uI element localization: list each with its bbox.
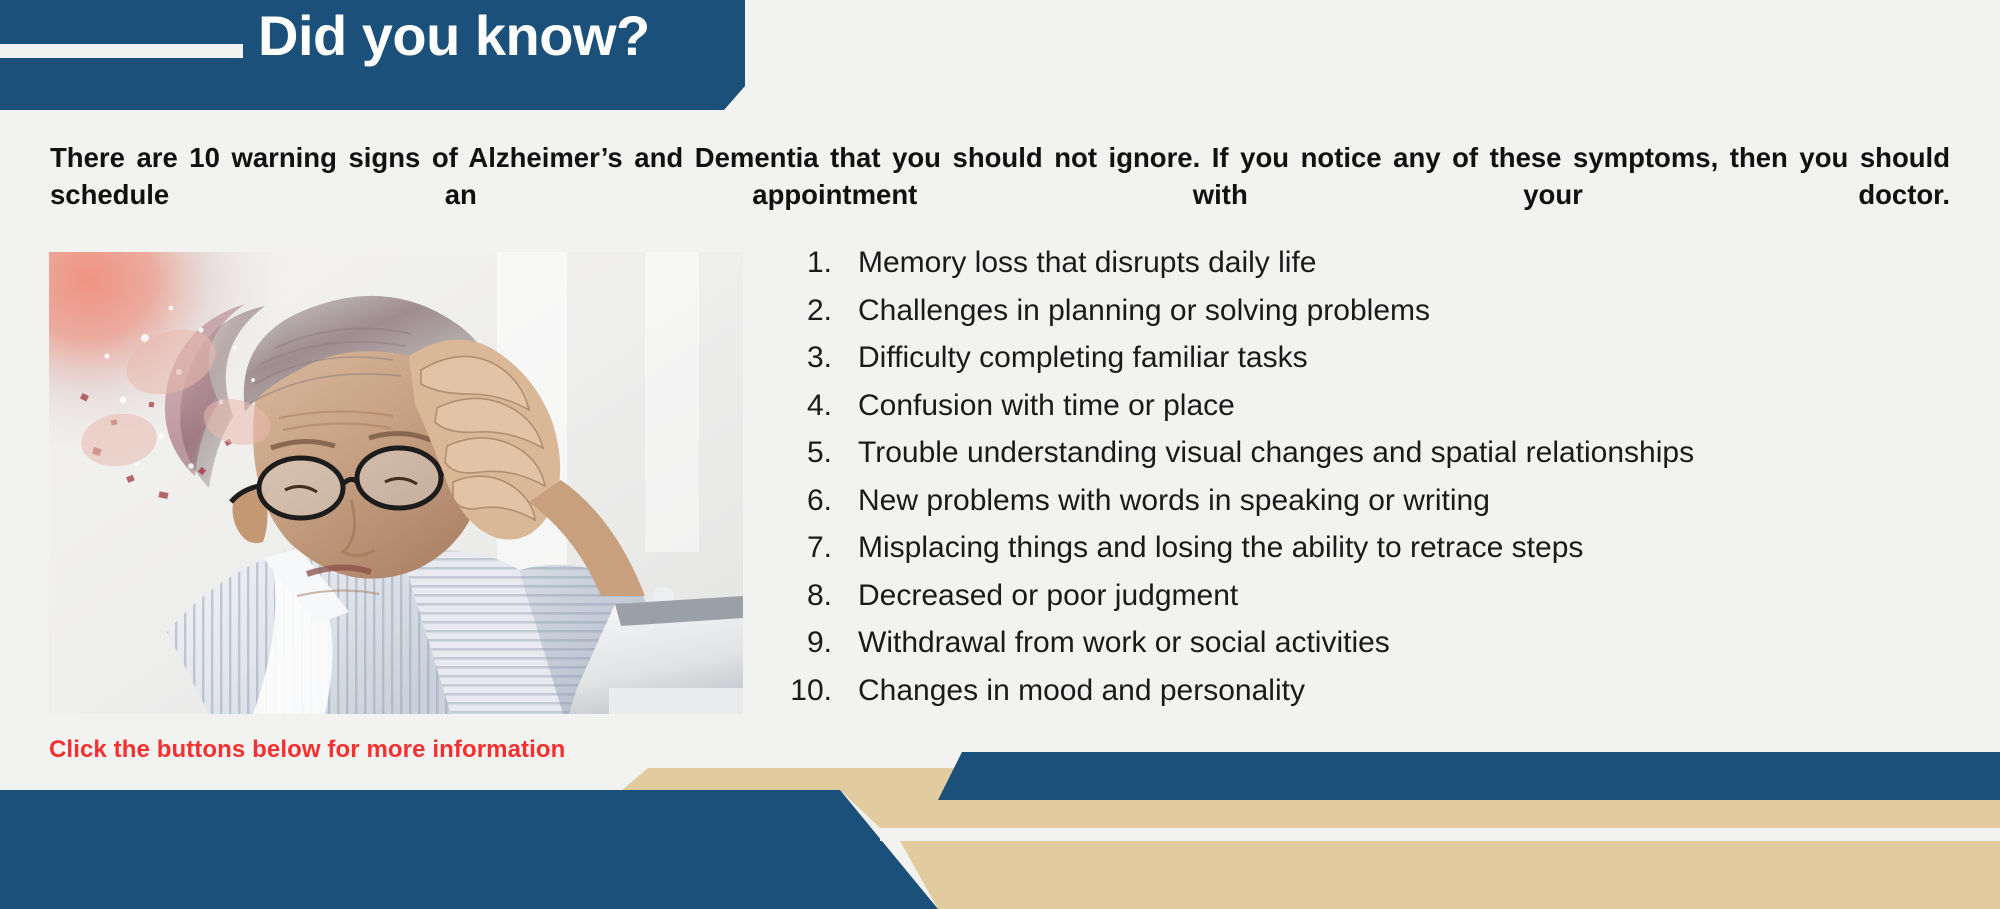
list-item: 5. Trouble understanding visual changes … [790,438,1970,486]
list-item-number: 2. [790,296,858,326]
list-item-label: Difficulty completing familiar tasks [858,343,1308,373]
list-item: 3. Difficulty completing familiar tasks [790,343,1970,391]
list-item: 8. Decreased or poor judgment [790,581,1970,629]
list-item-number: 1. [790,248,858,278]
list-item: 7. Misplacing things and losing the abil… [790,533,1970,581]
list-item-number: 6. [790,486,858,516]
intro-paragraph: There are 10 warning signs of Alzheimer’… [50,140,1950,250]
footer-tan-lower [900,841,2000,909]
list-item-label: Decreased or poor judgment [858,581,1238,611]
list-item-label: Trouble understanding visual changes and… [858,438,1694,468]
footer-blue-left [0,790,938,909]
list-item-label: Misplacing things and losing the ability… [858,533,1583,563]
header-rule-decoration [0,44,243,58]
footer-light-separator [880,828,2000,841]
list-item-number: 5. [790,438,858,468]
list-item: 4. Confusion with time or place [790,391,1970,439]
list-item: 6. New problems with words in speaking o… [790,486,1970,534]
list-item-label: Withdrawal from work or social activitie… [858,628,1390,658]
list-item-number: 4. [790,391,858,421]
warning-signs-list: 1. Memory loss that disrupts daily life … [790,248,1970,723]
footer-decoration [0,700,2000,909]
list-item-number: 8. [790,581,858,611]
list-item-label: Confusion with time or place [858,391,1235,421]
photo-frame [49,252,743,714]
list-item: 2. Challenges in planning or solving pro… [790,296,1970,344]
list-item-label: Memory loss that disrupts daily life [858,248,1317,278]
list-item-number: 7. [790,533,858,563]
list-item-number: 9. [790,628,858,658]
list-item-number: 3. [790,343,858,373]
infographic-canvas: Did you know? There are 10 warning signs… [0,0,2000,909]
list-item-label: Challenges in planning or solving proble… [858,296,1430,326]
list-item: 9. Withdrawal from work or social activi… [790,628,1970,676]
list-item: 1. Memory loss that disrupts daily life [790,248,1970,296]
footer-blue-right [938,752,2000,800]
page-title: Did you know? [258,8,650,64]
list-item-label: New problems with words in speaking or w… [858,486,1490,516]
elderly-man-photo [49,252,743,714]
